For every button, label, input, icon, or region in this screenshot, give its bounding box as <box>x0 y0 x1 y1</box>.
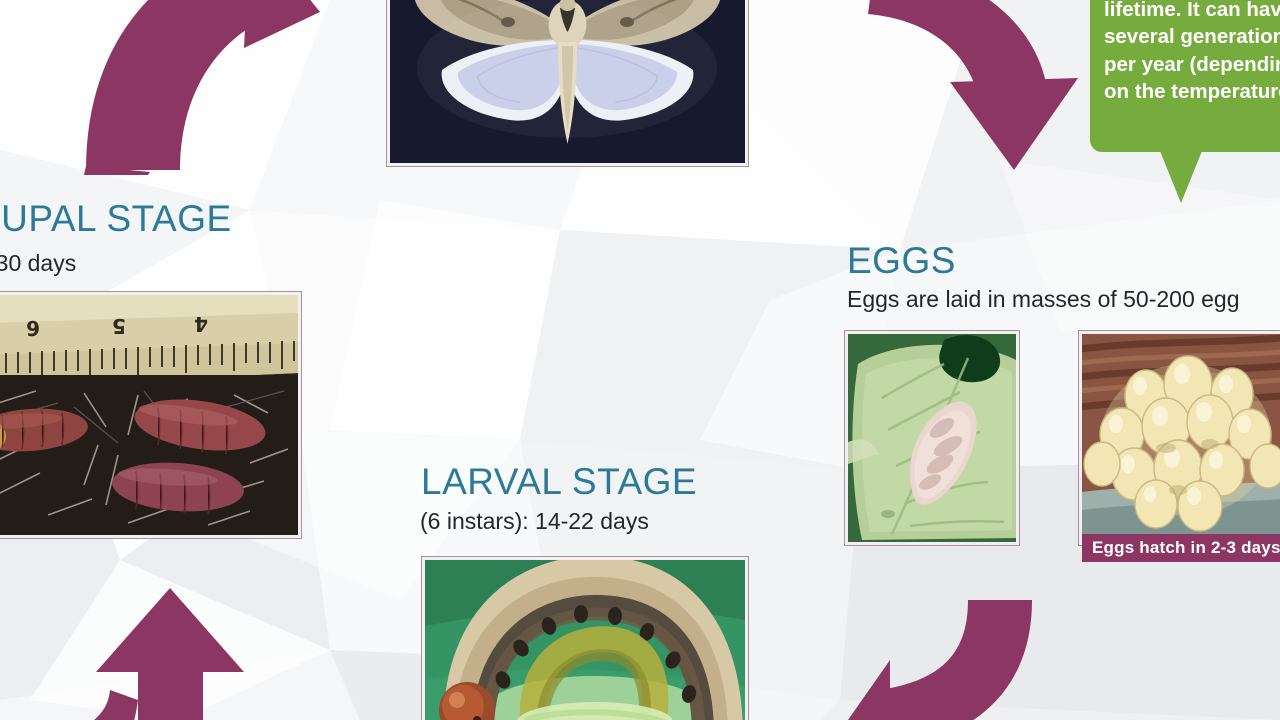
egg-mass-on-leaf-photo <box>848 334 1016 542</box>
svg-text:6: 6 <box>26 316 40 340</box>
fact-bubble-line-5: on the temperature <box>1104 78 1276 106</box>
arrow-bottom-right-curved-left <box>820 600 1032 720</box>
larval-stage-title: LARVAL STAGE <box>421 461 697 503</box>
fact-bubble-tail <box>1160 151 1202 203</box>
pupal-stage-title: PUPAL STAGE <box>0 198 232 240</box>
fact-bubble-line-3: several generation <box>1104 23 1276 51</box>
svg-text:4: 4 <box>194 312 208 336</box>
eggs-hatch-caption: Eggs hatch in 2-3 days <box>1082 534 1280 562</box>
larval-stage-subtitle: (6 instars): 14-22 days <box>420 508 649 535</box>
eggs-stage-title: EGGS <box>847 240 956 282</box>
adult-moth-photo <box>390 0 745 163</box>
arrow-bottom-left-curved-up <box>40 588 244 720</box>
pupae-photo: 6 5 4 <box>0 295 298 535</box>
arrow-top-left-curved-up-right <box>84 0 320 175</box>
fact-bubble: of 1 000 eggs in he lifetime. It can hav… <box>1090 0 1280 152</box>
larva-photo <box>425 560 745 720</box>
arrow-top-right-curved-down <box>868 0 1078 170</box>
egg-mass-leaf-image <box>848 334 1016 542</box>
pupal-stage-subtitle: -30 days <box>0 250 76 277</box>
fact-bubble-line-2: lifetime. It can hav <box>1104 0 1276 23</box>
infographic-canvas: 6 5 4 <box>0 0 1280 720</box>
eggs-stage-subtitle: Eggs are laid in masses of 50-200 egg <box>847 286 1240 313</box>
pupae-with-ruler-image: 6 5 4 <box>0 295 298 535</box>
egg-closeup-photo <box>1082 334 1280 542</box>
adult-moth-image <box>390 0 745 163</box>
egg-cluster-closeup-image <box>1082 334 1280 542</box>
larva-on-leaf-image <box>425 560 745 720</box>
svg-text:5: 5 <box>112 314 126 338</box>
fact-bubble-line-4: per year (dependin <box>1104 51 1276 79</box>
eggs-hatch-caption-text: Eggs hatch in 2-3 days <box>1092 538 1280 558</box>
